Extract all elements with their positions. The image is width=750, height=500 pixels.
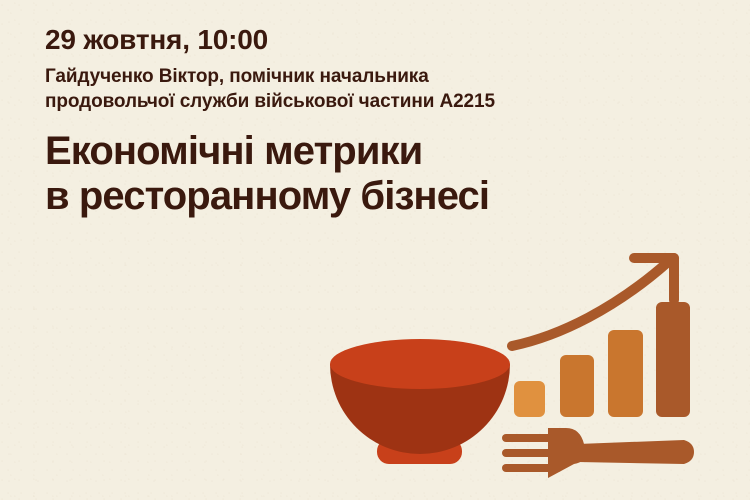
speaker-line-2: продовольчої служби військової частини А… <box>45 90 685 114</box>
speaker-info: Гайдученко Віктор, помічник начальника п… <box>45 65 685 113</box>
bar-4 <box>656 302 690 417</box>
growth-arrow-icon <box>512 258 674 346</box>
event-datetime: 29 жовтня, 10:00 <box>45 24 685 56</box>
poster-canvas: 29 жовтня, 10:00 Гайдученко Віктор, помі… <box>0 0 750 500</box>
page-title: Економічні метрики в ресторанному бізнес… <box>45 129 685 220</box>
soup-bowl-icon <box>330 339 510 464</box>
speaker-line-1: Гайдученко Віктор, помічник начальника <box>45 65 685 89</box>
bar-chart-bars <box>514 302 690 417</box>
text-block: 29 жовтня, 10:00 Гайдученко Віктор, помі… <box>45 24 685 220</box>
bowl-rim <box>330 339 510 389</box>
headline-line-2: в ресторанному бізнесі <box>45 174 685 220</box>
bar-3 <box>608 330 643 417</box>
bar-2 <box>560 355 594 417</box>
bar-1 <box>514 381 545 417</box>
headline-line-1: Економічні метрики <box>45 129 685 175</box>
fork-icon <box>502 428 694 478</box>
